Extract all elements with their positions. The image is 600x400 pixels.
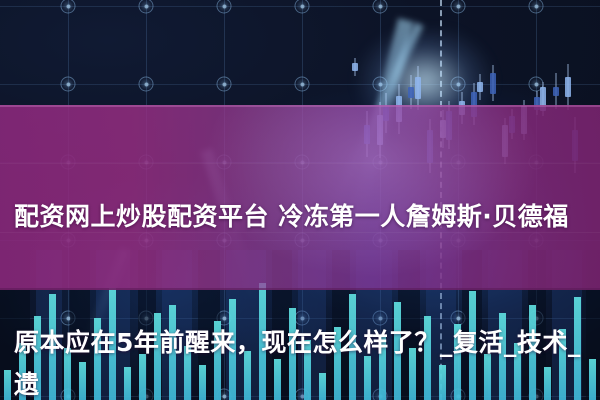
- band-top-edge: [0, 105, 600, 107]
- banner-image: 配资网上炒股配资平台 冷冻第一人詹姆斯·贝德福 原本应在5年前醒来，现在怎么样了…: [0, 0, 600, 400]
- headline-line-1: 配资网上炒股配资平台 冷冻第一人詹姆斯·贝德福: [6, 196, 594, 238]
- headline-text: 配资网上炒股配资平台 冷冻第一人詹姆斯·贝德福 原本应在5年前醒来，现在怎么样了…: [0, 112, 600, 400]
- headline-line-2: 原本应在5年前醒来，现在怎么样了？_复活_技术_遗: [6, 322, 594, 400]
